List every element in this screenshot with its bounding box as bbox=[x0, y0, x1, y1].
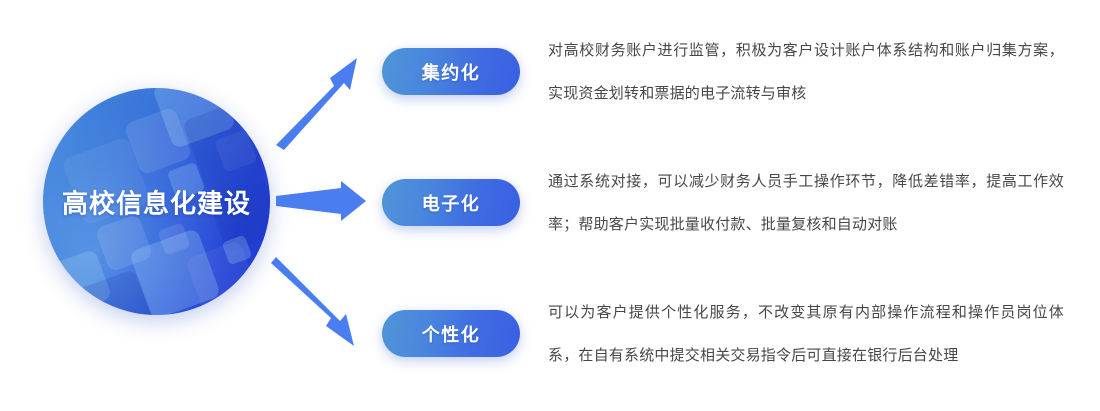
branch-description-3: 可以为客户提供个性化服务，不改变其原有内部操作流程和操作员岗位体系，在自有系统中… bbox=[548, 291, 1064, 377]
branch-pill-label-3: 个性化 bbox=[422, 321, 481, 347]
hub-label: 高校信息化建设 bbox=[43, 183, 270, 220]
arrow-right-icon bbox=[276, 181, 366, 221]
branch-pill-label-2: 电子化 bbox=[422, 190, 481, 216]
infographic-canvas: 高校信息化建设 集约化 对高校财务账户进行监管，积极为客户设计账户体系结构和账户… bbox=[0, 0, 1100, 411]
branch-description-1: 对高校财务账户进行监管，积极为客户设计账户体系结构和账户归集方案，实现资金划转和… bbox=[548, 29, 1064, 115]
branch-description-2: 通过系统对接，可以减少财务人员手工操作环节，降低差错率，提高工作效率；帮助客户实… bbox=[548, 160, 1064, 246]
branch-pill-3[interactable]: 个性化 bbox=[382, 310, 520, 357]
center-hub-circle: 高校信息化建设 bbox=[43, 88, 270, 315]
branch-pill-1[interactable]: 集约化 bbox=[382, 48, 520, 95]
branch-pill-2[interactable]: 电子化 bbox=[382, 179, 520, 226]
arrow-down-right-icon bbox=[271, 257, 354, 346]
arrow-up-right-icon bbox=[276, 58, 357, 150]
branch-pill-label-1: 集约化 bbox=[422, 59, 481, 85]
